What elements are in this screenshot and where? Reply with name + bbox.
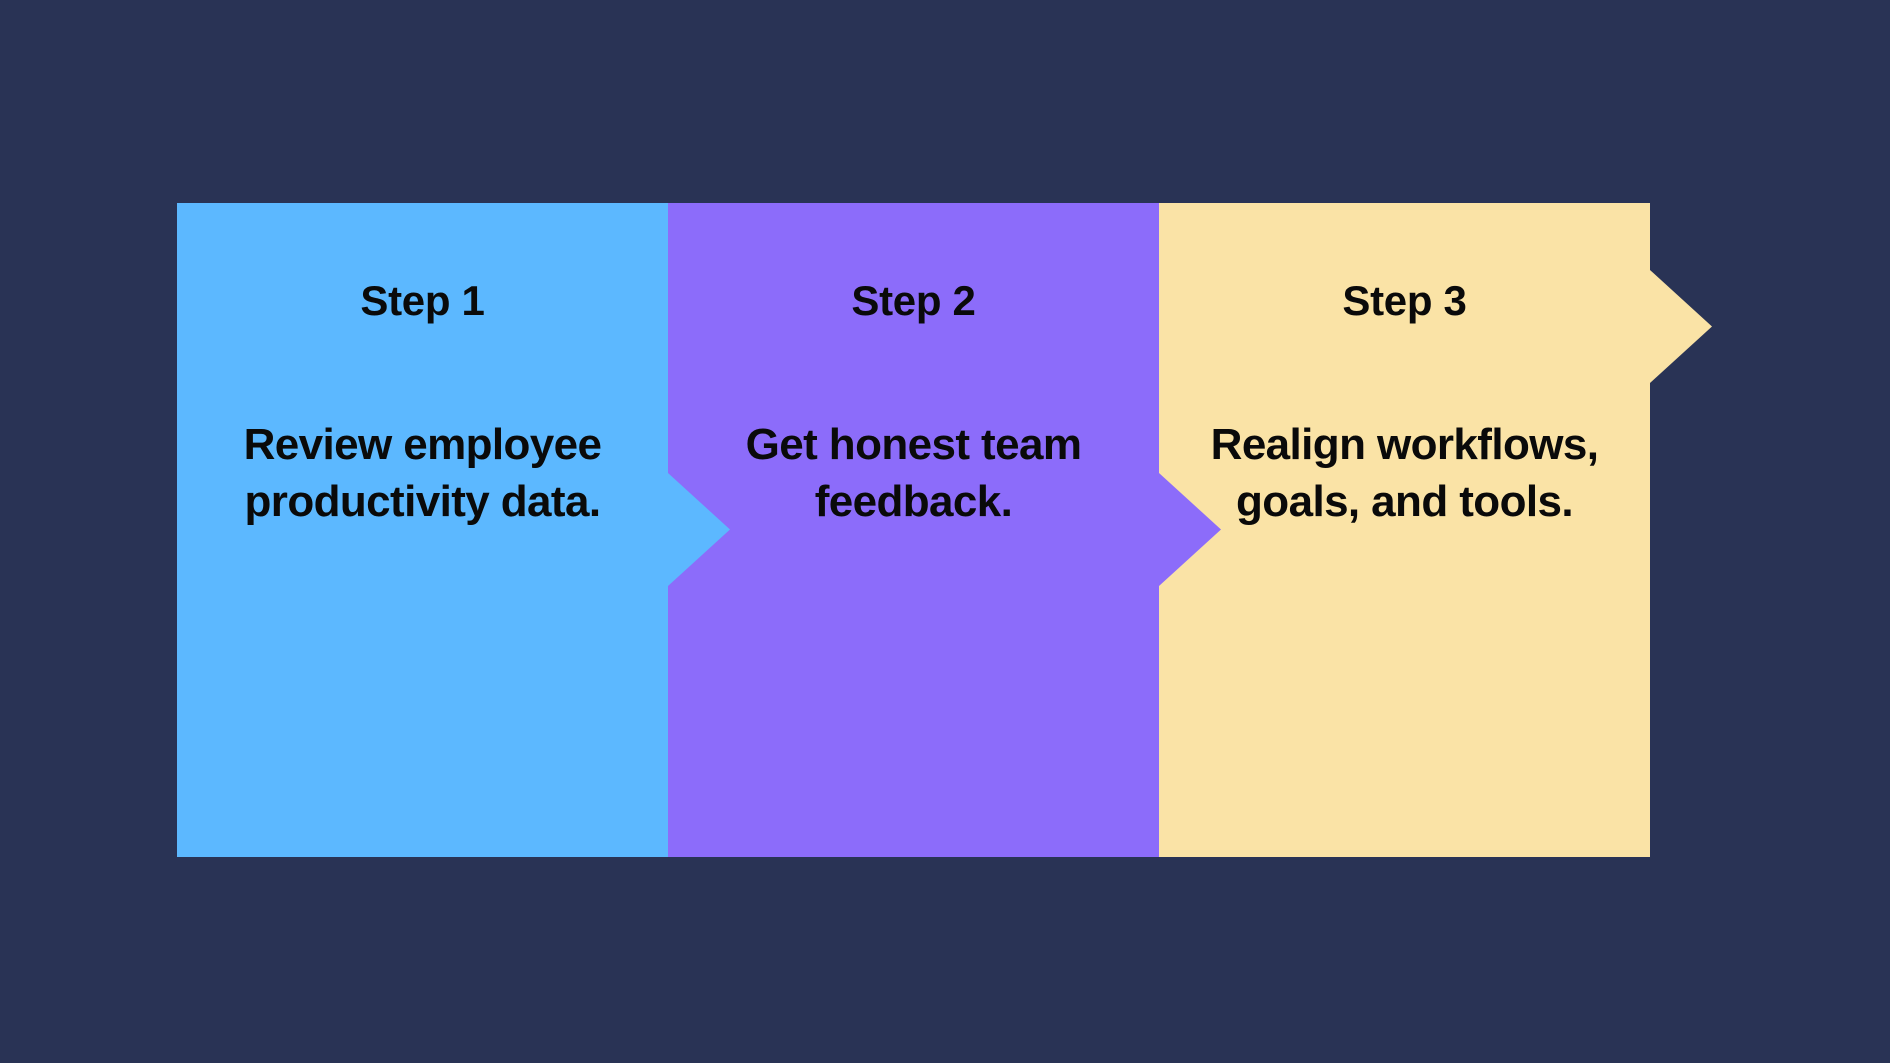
step-2-description: Get honest team feedback. — [704, 417, 1124, 530]
step-panel-2-content: Step 2 Get honest team feedback. — [668, 203, 1159, 857]
process-flow-diagram: Step 1 Review employee productivity data… — [177, 203, 1650, 857]
step-3-description: Realign workflows, goals, and tools. — [1195, 417, 1615, 530]
diagram-canvas: Step 1 Review employee productivity data… — [0, 0, 1890, 1063]
step-panel-1-content: Step 1 Review employee productivity data… — [177, 203, 668, 857]
step-3-title: Step 3 — [1342, 278, 1466, 324]
chevron-arrow-icon-3 — [1650, 270, 1712, 383]
step-2-title: Step 2 — [851, 278, 975, 324]
step-panel-3-content: Step 3 Realign workflows, goals, and too… — [1159, 203, 1650, 857]
step-1-description: Review employee productivity data. — [213, 417, 633, 530]
step-panel-3[interactable]: Step 3 Realign workflows, goals, and too… — [1159, 203, 1650, 857]
step-panel-2[interactable]: Step 2 Get honest team feedback. — [668, 203, 1159, 857]
step-1-title: Step 1 — [360, 278, 484, 324]
step-panel-1[interactable]: Step 1 Review employee productivity data… — [177, 203, 668, 857]
